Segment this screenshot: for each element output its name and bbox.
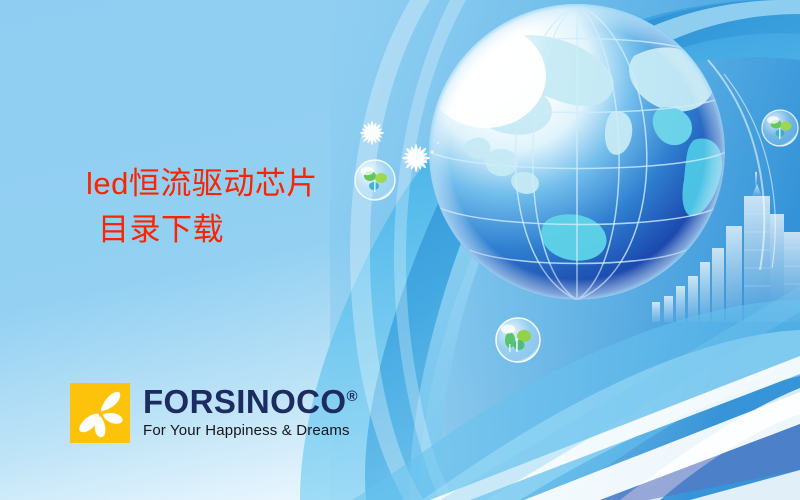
headline-line-2: 目录下载	[98, 211, 318, 249]
logo-wordmark-text: FORSINOCO	[143, 383, 346, 420]
logo-wordmark: FORSINOCO®	[143, 385, 358, 418]
led-catalog-banner: led恒流驱动芯片 目录下载 FORSINOCO®	[0, 0, 800, 500]
bubble-pinwheel-right	[762, 110, 798, 146]
headline-text-block: led恒流驱动芯片 目录下载	[86, 165, 318, 249]
forsinoco-logo[interactable]: FORSINOCO® For Your Happiness & Dreams	[70, 383, 358, 443]
registered-trademark-icon: ®	[346, 388, 357, 405]
bubble-pinwheel-left	[355, 160, 395, 200]
logo-text-block: FORSINOCO® For Your Happiness & Dreams	[143, 383, 358, 439]
sparkle-starburst-upper	[360, 121, 384, 145]
bubble-windmill-lower	[496, 318, 540, 362]
logo-mark-tile	[70, 383, 130, 443]
sparkle-starburst-lower	[402, 144, 430, 172]
four-petal-pinwheel-icon	[70, 383, 130, 443]
logo-tagline: For Your Happiness & Dreams	[143, 422, 358, 439]
headline-line-1: led恒流驱动芯片	[86, 165, 318, 203]
